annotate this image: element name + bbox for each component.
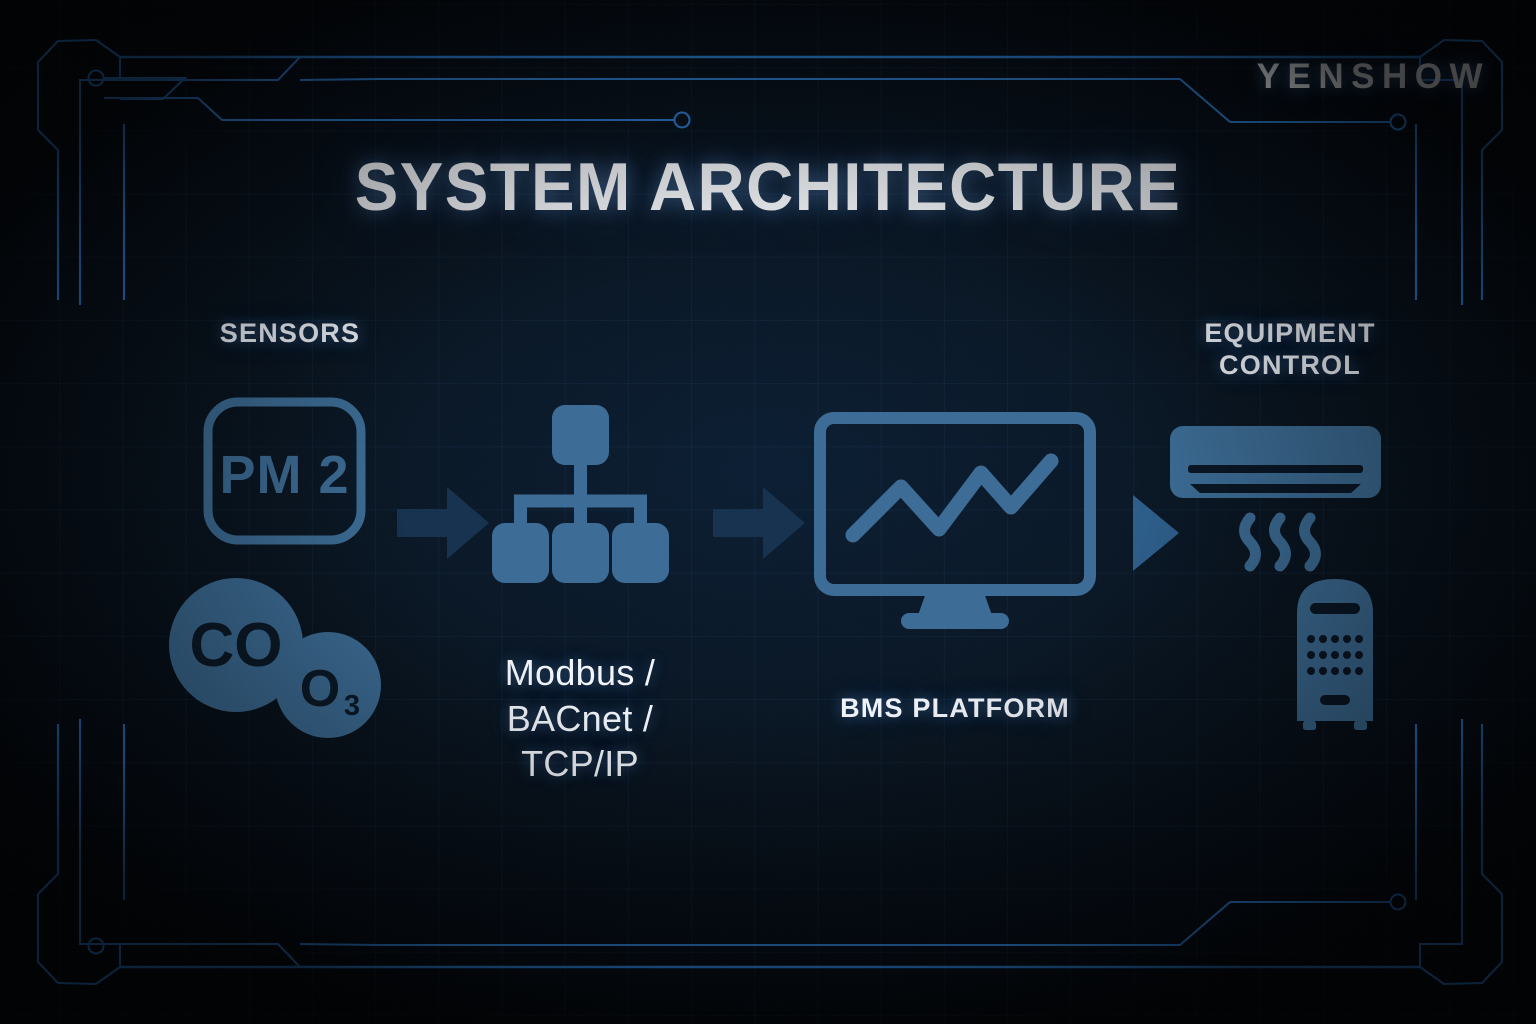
air-conditioner-icon xyxy=(1168,424,1383,564)
svg-text:PM 2: PM 2 xyxy=(219,445,349,505)
stage-equipment: EQUIPMENT CONTROL xyxy=(1150,318,1430,758)
brand-logo: YENSHOW xyxy=(1257,57,1490,97)
stage-protocol: Modbus / BACnet / TCP/IP xyxy=(435,405,725,805)
diagram-canvas: YENSHOW SYSTEM ARCHITECTURE SENSORS PM 2… xyxy=(0,0,1536,1024)
monitor-chart-icon xyxy=(815,413,1095,631)
svg-text:3: 3 xyxy=(344,690,360,722)
sensors-label: SENSORS xyxy=(150,318,430,350)
protocol-label: Modbus / BACnet / TCP/IP xyxy=(435,650,725,787)
air-purifier-icon xyxy=(1283,573,1387,731)
platform-label: BMS PLATFORM xyxy=(790,693,1120,725)
page-title: SYSTEM ARCHITECTURE xyxy=(31,148,1506,226)
stage-platform: BMS PLATFORM xyxy=(790,405,1120,785)
equipment-label: EQUIPMENT CONTROL xyxy=(1150,318,1430,381)
stage-sensors: SENSORS PM 2 CO O 3 xyxy=(150,318,430,758)
co-o3-sensor-icon: CO O 3 xyxy=(158,580,404,732)
network-hierarchy-icon xyxy=(490,405,670,595)
svg-text:CO: CO xyxy=(190,611,283,680)
pm25-sensor-icon: PM 2 xyxy=(202,396,367,546)
svg-text:O: O xyxy=(300,660,340,718)
